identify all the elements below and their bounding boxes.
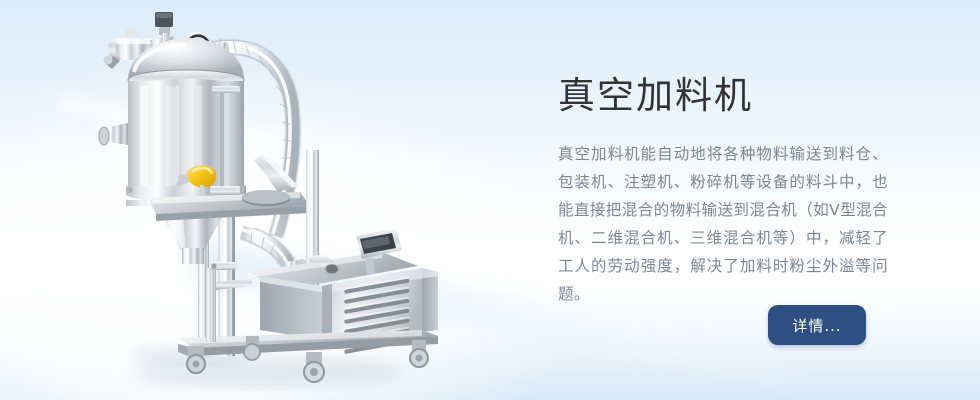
- banner-content: 真空加料机 真空加料机能自动地将各种物料输送到料仓、包装机、注塑机、粉碎机等设备…: [558, 0, 958, 400]
- details-button[interactable]: 详情...: [768, 305, 866, 345]
- product-banner: 真空加料机 真空加料机能自动地将各种物料输送到料仓、包装机、注塑机、粉碎机等设备…: [0, 0, 980, 400]
- product-image: [70, 0, 470, 400]
- product-description: 真空加料机能自动地将各种物料输送到料仓、包装机、注塑机、粉碎机等设备的料斗中，也…: [558, 140, 888, 308]
- page-title: 真空加料机: [558, 73, 753, 119]
